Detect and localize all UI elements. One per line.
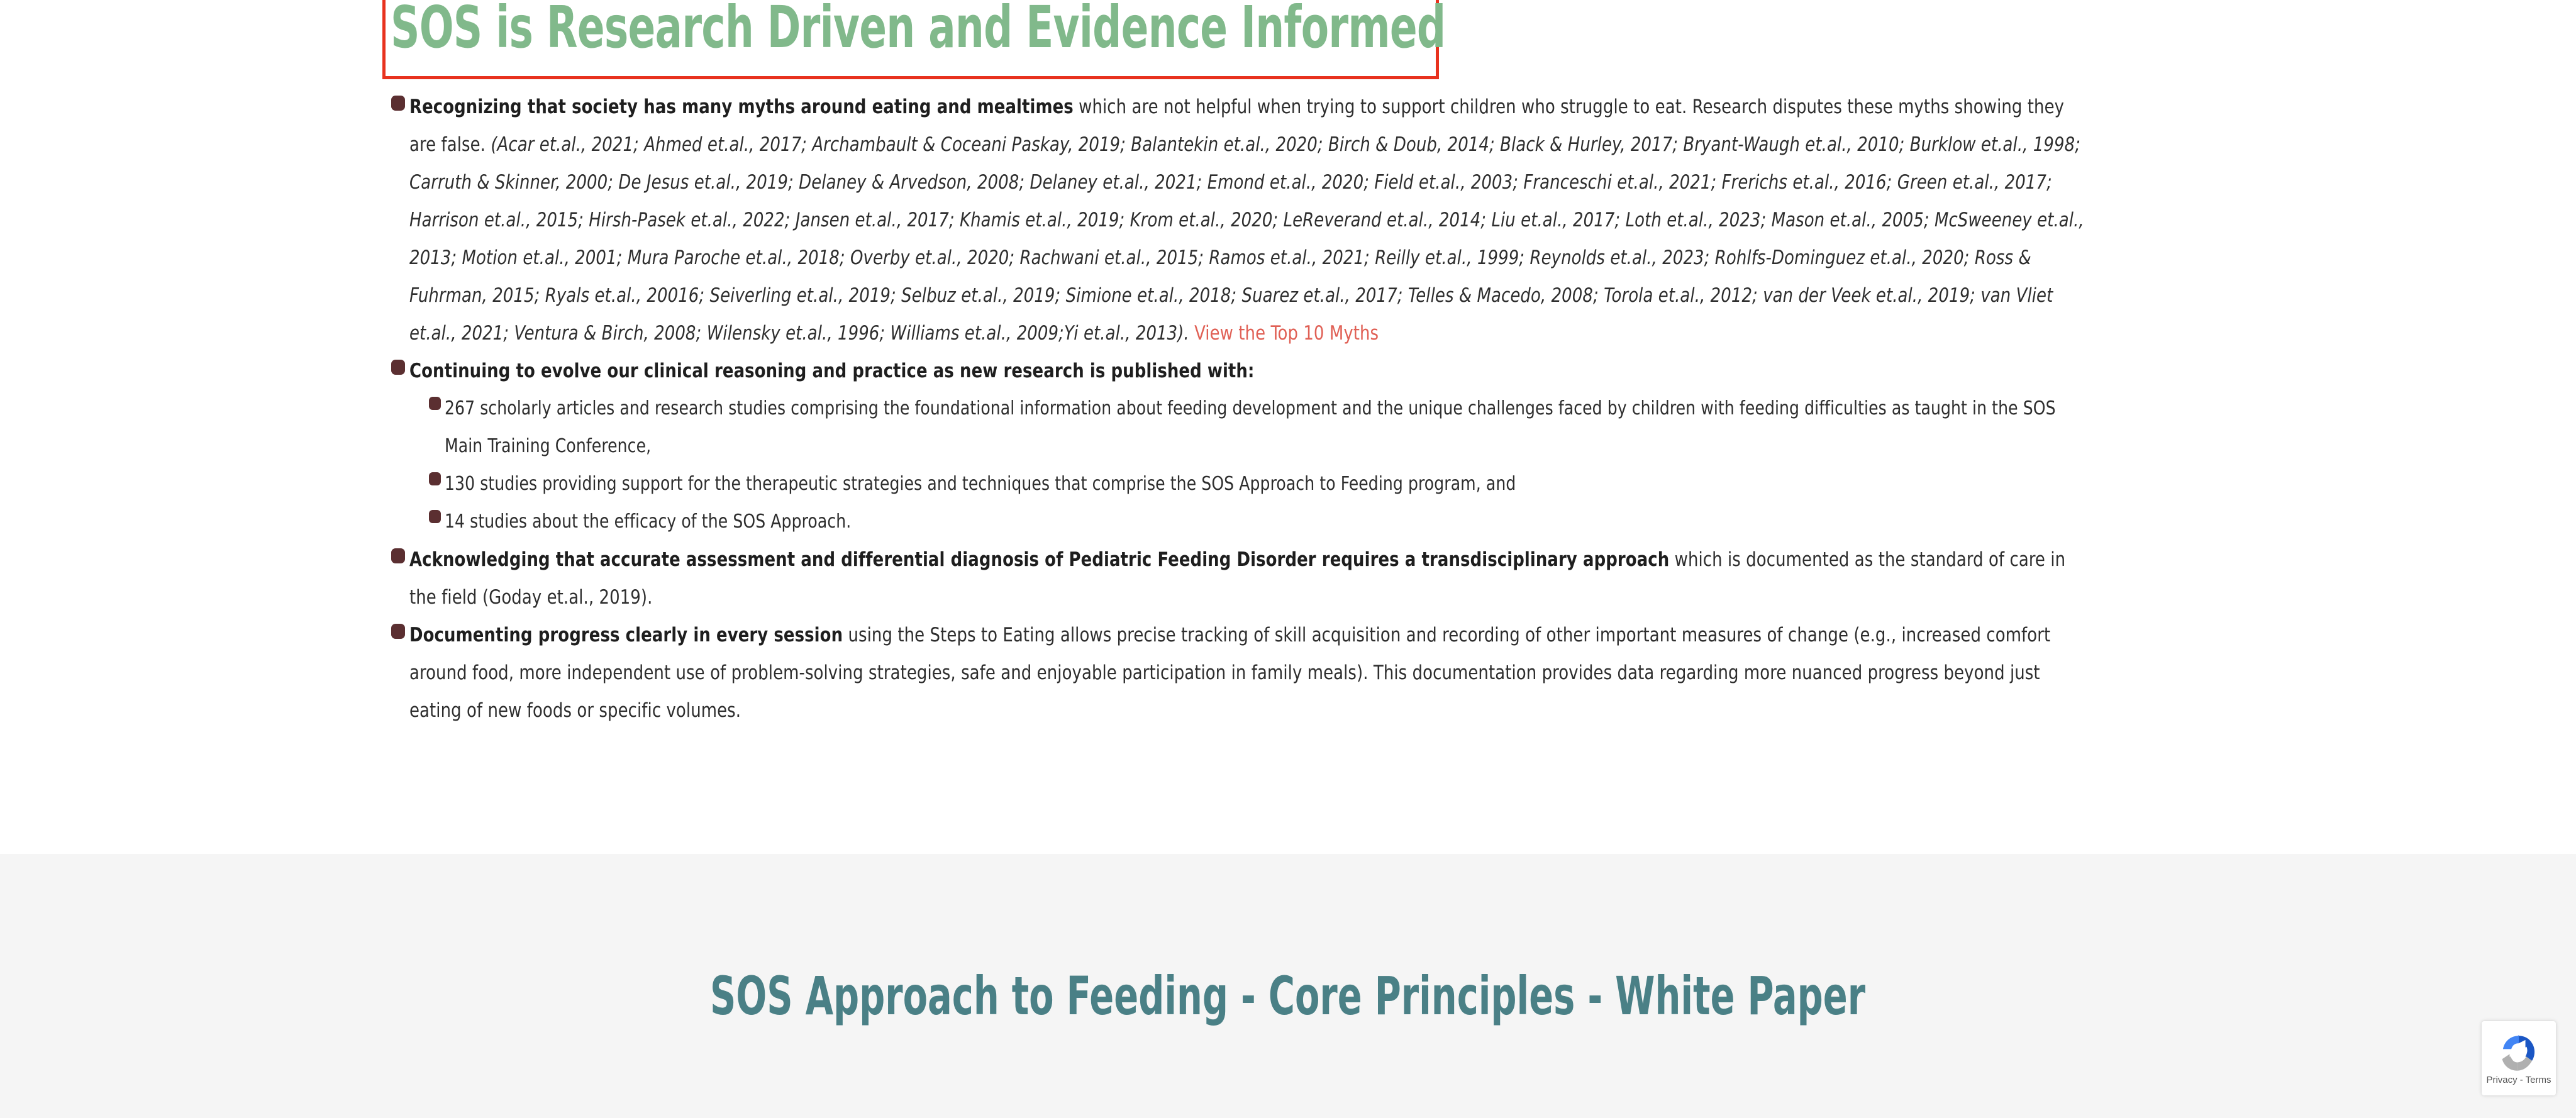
recaptcha-icon (2498, 1032, 2540, 1074)
list-item: Continuing to evolve our clinical reason… (391, 352, 2215, 390)
recaptcha-badge[interactable]: Privacy - Terms (2482, 1021, 2556, 1095)
bullet-marker-icon (429, 472, 441, 485)
page-title: SOS is Research Driven and Evidence Info… (391, 0, 1445, 57)
bullet-marker-icon (429, 510, 441, 523)
bullet-lead-text: Acknowledging that accurate assessment a… (409, 548, 1669, 571)
list-item-sub: 130 studies providing support for the th… (429, 465, 2215, 503)
bullet-paragraph: Recognizing that society has many myths … (409, 88, 2089, 352)
list-item-sub: 14 studies about the efficacy of the SOS… (429, 503, 2215, 541)
list-item: Recognizing that society has many myths … (391, 88, 2215, 352)
bullet-marker-icon (429, 397, 441, 410)
page-title-box: SOS is Research Driven and Evidence Info… (382, 0, 1439, 79)
bullet-lead-text: Continuing to evolve our clinical reason… (409, 360, 1254, 382)
bottom-section-heading: SOS Approach to Feeding - Core Principle… (711, 968, 1866, 1024)
recaptcha-terms-label[interactable]: Privacy - Terms (2486, 1075, 2551, 1085)
bullet-paragraph: Continuing to evolve our clinical reason… (409, 352, 2089, 390)
view-top-10-myths-link[interactable]: View the Top 10 Myths (1194, 322, 1379, 345)
sub-bullet-text: 267 scholarly articles and research stud… (445, 390, 2091, 465)
bullet-marker-icon (391, 96, 405, 111)
bullet-paragraph: Acknowledging that accurate assessment a… (409, 541, 2089, 616)
bullet-marker-icon (391, 624, 405, 639)
bullet-marker-icon (391, 360, 405, 375)
list-item-sub: 267 scholarly articles and research stud… (429, 390, 2215, 465)
bullet-citations: (Acar et.al., 2021; Ahmed et.al., 2017; … (409, 133, 2084, 345)
sub-bullet-text: 14 studies about the efficacy of the SOS… (445, 503, 2091, 541)
bullet-lead-text: Recognizing that society has many myths … (409, 96, 1074, 118)
bullet-lead-text: Documenting progress clearly in every se… (409, 624, 843, 646)
sub-bullet-text: 130 studies providing support for the th… (445, 465, 2091, 503)
bottom-section-heading-wrap: SOS Approach to Feeding - Core Principle… (0, 968, 2576, 1024)
bullet-paragraph: Documenting progress clearly in every se… (409, 616, 2089, 729)
list-item: Acknowledging that accurate assessment a… (391, 541, 2215, 616)
list-item: Documenting progress clearly in every se… (391, 616, 2215, 729)
content-column: Recognizing that society has many myths … (391, 88, 2215, 729)
bullet-marker-icon (391, 548, 405, 563)
